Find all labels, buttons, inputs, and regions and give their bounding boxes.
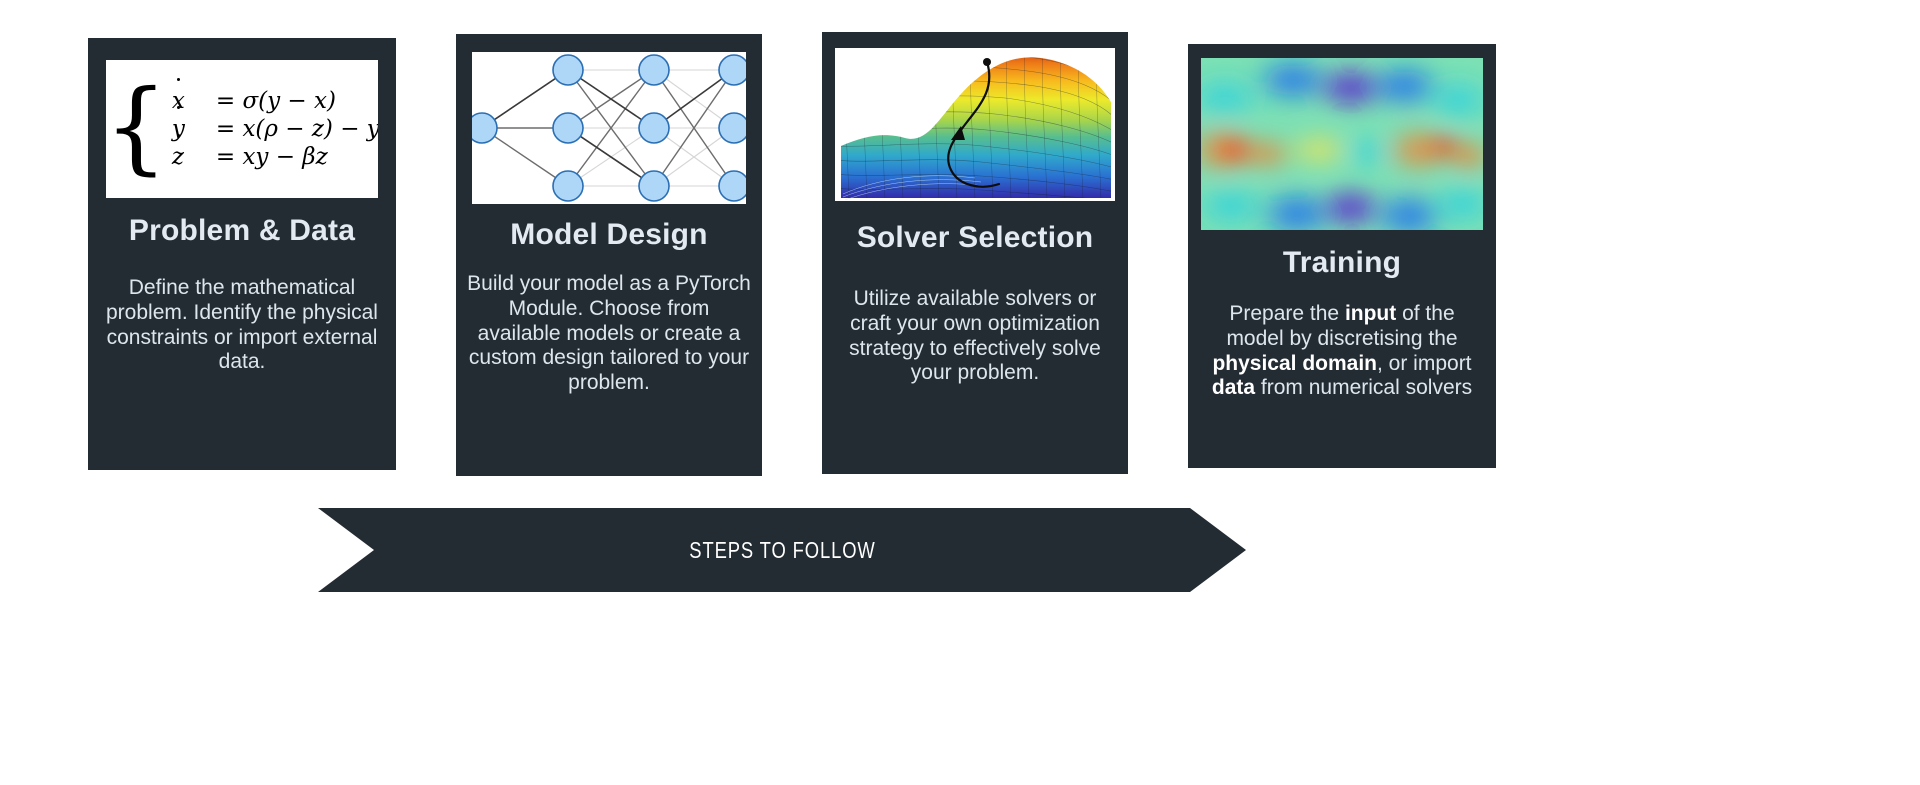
step-card-solver-selection[interactable]: Solver Selection Utilize available solve… [822, 32, 1128, 474]
equation-row: z = xy − βz [172, 144, 378, 170]
neural-network-diagram [472, 52, 746, 204]
banner-label: STEPS TO FOLLOW [689, 537, 875, 564]
card-title: Solver Selection [822, 221, 1128, 255]
path-start-marker [983, 58, 991, 66]
card-title: Problem & Data [88, 214, 396, 248]
card-body: Prepare the input of the model by discre… [1188, 302, 1496, 401]
neural-network-svg [472, 52, 746, 204]
card-body: Utilize available solvers or craft your … [822, 287, 1128, 386]
step-card-model-design[interactable]: Model Design Build your model as a PyTor… [456, 34, 762, 476]
equation-row: x = σ(y − x) [172, 88, 378, 114]
equation-rhs: = σ(y − x) [216, 88, 336, 114]
equation-rhs: = xy − βz [216, 144, 328, 170]
card-title: Model Design [456, 218, 762, 252]
step-card-problem-and-data[interactable]: { x = σ(y − x) y = x(ρ − z) − y z = xy − [88, 38, 396, 470]
field-heatmap-svg [1201, 58, 1483, 230]
card-title: Training [1188, 246, 1496, 280]
card-body: Define the mathematical problem. Identif… [88, 276, 396, 375]
field-heatmap-image [1201, 58, 1483, 230]
loss-surface-3d-plot [835, 48, 1115, 201]
lorenz-equations-image: { x = σ(y − x) y = x(ρ − z) − y z = xy − [106, 60, 378, 198]
step-card-training[interactable]: Training Prepare the input of the model … [1188, 44, 1496, 468]
equation-brace: { [106, 86, 168, 168]
loss-surface-svg [835, 48, 1115, 201]
card-body: Build your model as a PyTorch Module. Ch… [456, 272, 762, 396]
infographic-root: { x = σ(y − x) y = x(ρ − z) − y z = xy − [0, 0, 1920, 785]
steps-to-follow-banner[interactable]: STEPS TO FOLLOW [318, 508, 1246, 592]
equation-row: y = x(ρ − z) − y [172, 116, 378, 142]
equation-rhs: = x(ρ − z) − y [216, 116, 378, 142]
